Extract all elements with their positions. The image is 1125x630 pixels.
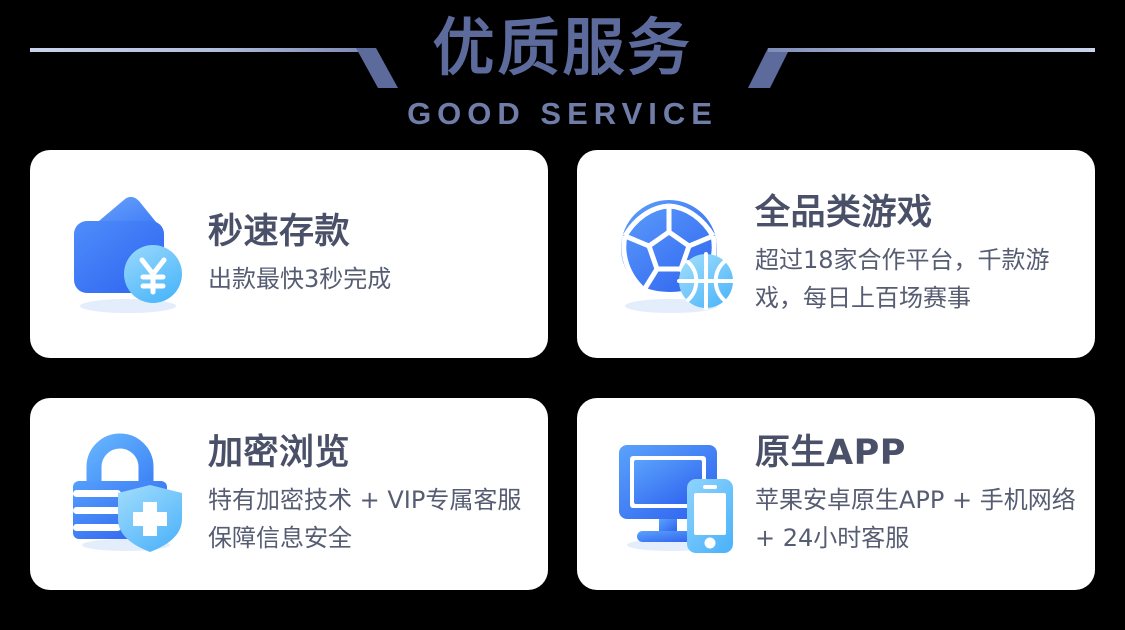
- soccer-basketball-icon: [611, 188, 743, 320]
- feature-card-text: 秒速存款 出款最快3秒完成: [196, 210, 548, 298]
- wallet-yen-icon: [64, 188, 196, 320]
- feature-card-games[interactable]: 全品类游戏 超过18家合作平台，千款游戏，每日上百场赛事: [577, 150, 1095, 358]
- feature-card-title: 加密浏览: [208, 431, 536, 475]
- feature-card-desc: 特有加密技术 + VIP专属客服保障信息安全: [208, 481, 536, 557]
- lock-shield-icon: [64, 431, 196, 557]
- feature-card-text: 全品类游戏 超过18家合作平台，千款游戏，每日上百场赛事: [743, 191, 1095, 317]
- feature-card-title: 全品类游戏: [755, 191, 1083, 235]
- feature-card-desc: 出款最快3秒完成: [208, 260, 536, 298]
- feature-card-desc: 苹果安卓原生APP + 手机网络 + 24小时客服: [755, 481, 1083, 557]
- feature-card-native-app[interactable]: 原生APP 苹果安卓原生APP + 手机网络 + 24小时客服: [577, 398, 1095, 590]
- feature-card-title: 原生APP: [755, 431, 1083, 475]
- feature-card-title: 秒速存款: [208, 210, 536, 254]
- feature-card-text: 加密浏览 特有加密技术 + VIP专属客服保障信息安全: [196, 431, 548, 557]
- monitor-phone-icon: [611, 431, 743, 557]
- feature-card-deposit[interactable]: 秒速存款 出款最快3秒完成: [30, 150, 548, 358]
- feature-card-desc: 超过18家合作平台，千款游戏，每日上百场赛事: [755, 241, 1083, 317]
- page-subtitle: GOOD SERVICE: [0, 95, 1125, 133]
- feature-card-grid: 秒速存款 出款最快3秒完成: [30, 150, 1095, 590]
- feature-card-encryption[interactable]: 加密浏览 特有加密技术 + VIP专属客服保障信息安全: [30, 398, 548, 590]
- feature-card-text: 原生APP 苹果安卓原生APP + 手机网络 + 24小时客服: [743, 431, 1095, 557]
- page-title: 优质服务: [0, 8, 1125, 88]
- page-header: 优质服务 GOOD SERVICE: [0, 0, 1125, 150]
